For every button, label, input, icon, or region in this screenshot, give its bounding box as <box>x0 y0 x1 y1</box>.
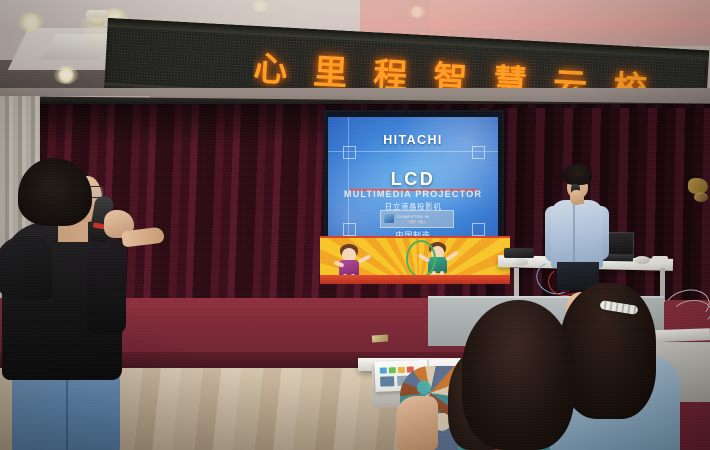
led-char-2: 里 <box>312 44 349 95</box>
adapter <box>652 256 668 263</box>
led-char-1: 心 <box>252 40 289 91</box>
projector-screen: HITACHI LCD MULTIMEDIA PROJECTOR 日立液晶投影机… <box>324 110 504 254</box>
stage-kids-banner <box>320 236 510 284</box>
kid-leg <box>351 274 355 284</box>
av-device <box>504 248 534 258</box>
downlight <box>18 12 44 32</box>
osd-source-label: COMPUTER IN <box>397 214 429 219</box>
torso-blue-shirt <box>551 200 603 268</box>
hitachi-logo-text: HITACHI <box>328 133 498 147</box>
brochure-photo <box>380 376 394 386</box>
mouse <box>634 256 650 264</box>
presentation-room-photo: 心 里 程 智 慧 云 校 HITACHI LCD MULTIME <box>0 0 710 450</box>
alignment-marker <box>472 146 485 159</box>
arm <box>396 396 438 450</box>
shoulder <box>0 236 52 300</box>
blue-jeans <box>12 368 120 450</box>
osd-source-box: COMPUTER IN 中图1.1输入 <box>380 210 454 228</box>
cartoon-hoop <box>406 240 436 278</box>
hair <box>462 300 574 450</box>
kid-arm <box>358 254 371 264</box>
brochure-swatch <box>380 367 387 373</box>
mouse <box>512 258 528 266</box>
hair <box>563 164 592 185</box>
osd-sub-label: 中图1.1输入 <box>381 220 453 225</box>
hand <box>570 190 583 205</box>
kid-leg <box>343 274 347 284</box>
ceiling-pink-cove-inner <box>430 0 710 30</box>
kid-leg <box>432 271 436 282</box>
screen-headline: LCD <box>328 169 498 190</box>
screen-subhead: MULTIMEDIA PROJECTOR <box>328 189 498 199</box>
brochure-swatch <box>389 367 396 373</box>
downlight <box>54 66 78 84</box>
kid-leg <box>440 271 444 282</box>
projected-image: HITACHI LCD MULTIMEDIA PROJECTOR 日立液晶投影机… <box>328 117 498 245</box>
cartoon-child-left <box>334 244 374 284</box>
downlight <box>250 0 270 12</box>
arm <box>86 238 126 334</box>
gold-decoration <box>694 192 708 202</box>
downlight <box>408 6 426 18</box>
spot-lamp <box>86 10 108 26</box>
kid-arm <box>445 250 459 261</box>
floor-plate <box>372 334 388 342</box>
alignment-marker <box>343 146 356 159</box>
